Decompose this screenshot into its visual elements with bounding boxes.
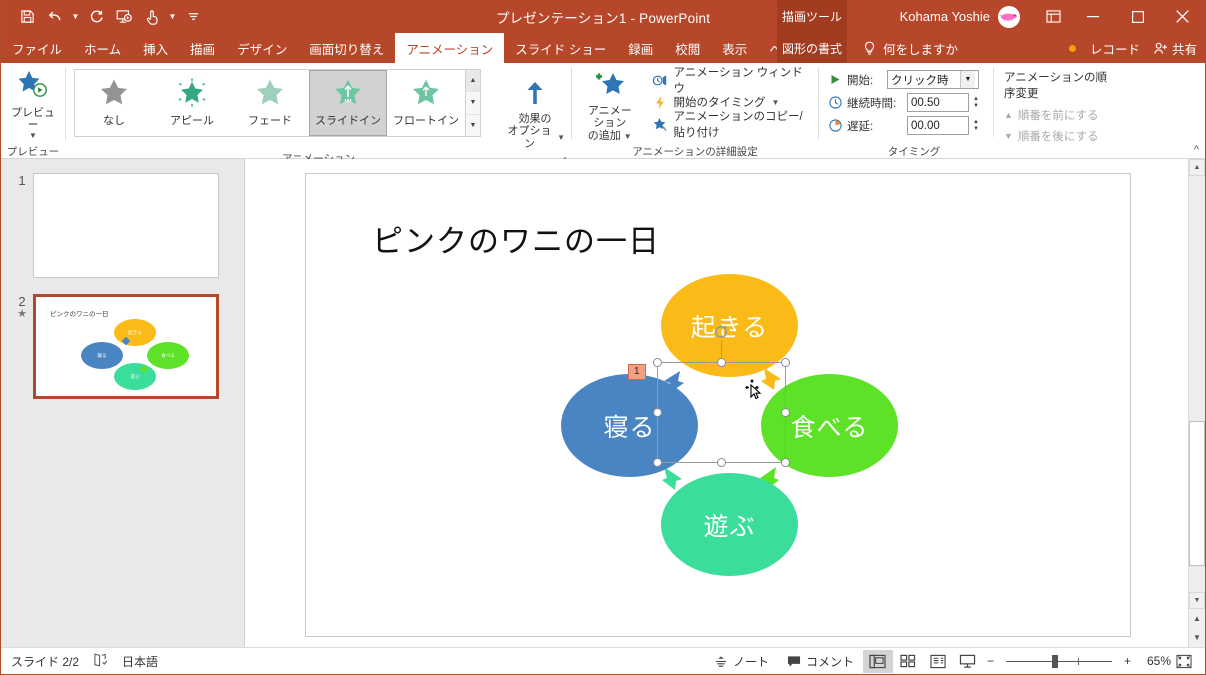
zoom-slider-knob[interactable] [1052, 655, 1058, 668]
delay-input[interactable]: 00.00 [907, 116, 969, 135]
maximize-button[interactable] [1115, 0, 1160, 33]
zoom-level[interactable]: 65% [1135, 654, 1171, 668]
accessibility-checker-icon[interactable] [93, 653, 108, 670]
context-tab-drawing-tools: 描画ツール [777, 0, 847, 33]
start-row: 開始: クリック時 ▼ [827, 68, 983, 91]
resize-handle-ne[interactable] [781, 358, 790, 367]
collapse-ribbon-icon[interactable]: ^ [1194, 144, 1199, 156]
normal-view-button[interactable] [863, 650, 893, 673]
delay-value: 00.00 [911, 120, 940, 132]
ribbon-tab-bar: ファイル ホーム 挿入 描画 デザイン 画面切り替え アニメーション スライド … [1, 33, 1205, 63]
slide-canvas[interactable]: ピンクのワニの一日 起きる [305, 173, 1131, 637]
delay-row: 遅延: 00.00 ▲▼ [827, 114, 983, 137]
zoom-slider-tick [1078, 658, 1079, 665]
ribbon-group-preview: プレビュー ▼ プレビュー [1, 63, 65, 159]
gallery-item-appear[interactable]: アピール [153, 70, 231, 136]
share-label: 共有 [1172, 39, 1197, 58]
zoom-slider[interactable] [1006, 661, 1112, 662]
reading-view-button[interactable] [923, 650, 953, 673]
tab-review[interactable]: 校閲 [664, 33, 711, 63]
tell-me-placeholder: 何をしますか [883, 39, 958, 58]
thumbnail-meta-1: 1 [11, 173, 33, 188]
main-area: 1 2 ★ ピンクのワニの一日 起きる 食べる 遊ぶ 寝る [1, 159, 1205, 647]
start-value: クリック時 [891, 72, 949, 88]
notes-button[interactable]: ノート [705, 650, 778, 673]
next-slide-button[interactable]: ▼ [1189, 628, 1205, 647]
save-icon[interactable] [13, 4, 41, 30]
touch-mode-caret-icon[interactable]: ▼ [166, 4, 179, 30]
comments-button[interactable]: コメント [778, 650, 863, 673]
duration-input[interactable]: 00.50 [907, 93, 969, 112]
redo-icon[interactable] [82, 4, 110, 30]
add-animation-button[interactable]: アニメーション の追加 ▼ [578, 67, 642, 143]
gallery-item-slide-in-label: スライドイン [315, 112, 381, 128]
scroll-track[interactable] [1189, 176, 1205, 592]
slide-title[interactable]: ピンクのワニの一日 [372, 216, 660, 261]
slideshow-button[interactable] [953, 650, 983, 673]
gallery-item-none[interactable]: なし [75, 70, 153, 136]
group-label-timing: タイミング [819, 144, 1109, 159]
thumbnail-number-2: 2 [11, 294, 33, 309]
duration-spinner[interactable]: ▲▼ [969, 93, 983, 112]
status-bar: スライド 2/2 日本語 ノート コメント [1, 647, 1205, 674]
tab-view[interactable]: 表示 [711, 33, 758, 63]
thumbnail-row-1[interactable]: 1 [1, 173, 244, 278]
thumbnail-shape-okiru: 起きる [114, 319, 156, 346]
touch-mode-icon[interactable] [138, 4, 166, 30]
mouse-cursor-move [743, 378, 767, 402]
resize-handle-sw[interactable] [653, 458, 662, 467]
status-right: ノート コメント − [705, 650, 1197, 673]
thumbnail-shape-taberu: 食べる [147, 342, 189, 369]
tab-draw[interactable]: 描画 [179, 33, 226, 63]
trigger-caret-icon[interactable]: ▼ [772, 100, 780, 106]
powerpoint-window: ▼ ▼ プレゼンテーション1 - PowerPoint 描画ツール Kohama… [0, 0, 1206, 675]
gallery-item-float-in-label: フロートイン [393, 112, 459, 128]
vertical-scrollbar[interactable]: ▲ ▼ ▲ ▼ [1188, 159, 1205, 647]
gallery-item-appear-label: アピール [170, 112, 214, 128]
start-from-beginning-icon[interactable] [110, 4, 138, 30]
start-dropdown-caret-icon[interactable]: ▼ [960, 71, 975, 88]
add-animation-star-icon [594, 70, 626, 102]
customize-qat-icon[interactable] [179, 4, 207, 30]
gallery-item-float-in[interactable]: フロートイン [387, 70, 465, 136]
slide-thumbnail-2[interactable]: ピンクのワニの一日 起きる 食べる 遊ぶ 寝る [33, 294, 219, 399]
title-bar-right: Kohama Yoshie [900, 0, 1205, 33]
language-indicator[interactable]: 日本語 [122, 653, 158, 670]
gallery-scroll-buttons[interactable]: ▲ ▼ ▼ [465, 70, 480, 136]
quick-access-toolbar: ▼ ▼ [1, 4, 207, 30]
tab-bar-right-actions: レコード 共有 [1069, 33, 1197, 63]
animation-gallery[interactable]: なし アピール フェード [74, 69, 481, 137]
previous-slide-button[interactable]: ▲ [1189, 609, 1205, 628]
record-dot-icon [1069, 45, 1076, 52]
thumbnail-shape-asobu: 遊ぶ [114, 363, 156, 390]
move-earlier-label: 順番を前にする [1018, 107, 1099, 123]
star-float-in-icon [411, 78, 441, 110]
star-fade-icon [255, 78, 285, 110]
ribbon-display-options-icon[interactable] [1036, 0, 1070, 33]
resize-handle-se[interactable] [781, 458, 790, 467]
clock-icon [827, 96, 843, 109]
star-gray-icon [99, 78, 129, 110]
animation-star-icon: ★ [11, 309, 33, 320]
animation-pane-button[interactable]: アニメーション ウィンドウ [648, 69, 819, 91]
ribbon-group-timing: 開始: クリック時 ▼ 継続時間: 00.50 [819, 63, 1109, 159]
effect-options-button[interactable]: 効果の オプション ▼ [499, 77, 571, 151]
ribbon-group-animation: なし アピール フェード [66, 63, 571, 159]
move-later-button[interactable]: ▼ 順番を後にする [998, 125, 1109, 146]
add-animation-label2: の追加 [588, 130, 621, 143]
comments-label: コメント [806, 653, 854, 670]
preview-caret-icon[interactable]: ▼ [29, 133, 37, 139]
gallery-item-fade[interactable]: フェード [231, 70, 309, 136]
preview-star-play-icon [16, 70, 50, 104]
tab-transitions[interactable]: 画面切り替え [298, 33, 395, 63]
preview-label: プレビュー [7, 107, 59, 132]
up-arrow-blue-icon [522, 80, 548, 110]
effect-options-label1: 効果の [519, 113, 552, 126]
tab-shape-format[interactable]: 図形の書式 [777, 33, 847, 63]
gallery-scroll-down-icon[interactable]: ▼ [466, 92, 480, 114]
close-button[interactable] [1160, 0, 1205, 33]
minimize-button[interactable] [1070, 0, 1115, 33]
tab-file[interactable]: ファイル [1, 33, 73, 63]
undo-dropdown-caret-icon[interactable]: ▼ [69, 4, 82, 30]
tell-me-box[interactable]: 何をしますか [863, 33, 958, 63]
add-animation-label1: アニメーション [584, 105, 636, 130]
gallery-item-slide-in[interactable]: スライドイン [309, 70, 387, 136]
ribbon: プレビュー ▼ プレビュー なし [1, 63, 1205, 159]
start-dropdown[interactable]: クリック時 ▼ [887, 70, 979, 89]
zoom-out-button[interactable]: − [983, 650, 998, 673]
zoom-slider-track[interactable] [1006, 661, 1112, 662]
notes-label: ノート [733, 653, 769, 670]
share-button[interactable]: 共有 [1154, 39, 1197, 58]
thumbnail-row-2[interactable]: 2 ★ ピンクのワニの一日 起きる 食べる 遊ぶ 寝る [1, 294, 244, 399]
slide-editor[interactable]: ピンクのワニの一日 起きる [245, 159, 1205, 647]
group-label-preview: プレビュー [1, 144, 65, 159]
shape-asobu[interactable]: 遊ぶ [661, 473, 798, 576]
scroll-down-button[interactable]: ▼ [1189, 592, 1205, 609]
start-label: 開始: [847, 72, 887, 88]
record-button[interactable]: レコード [1090, 39, 1140, 58]
tab-recording[interactable]: 録画 [617, 33, 664, 63]
fit-slide-icon[interactable] [1171, 654, 1197, 669]
slide-counter[interactable]: スライド 2/2 [11, 653, 79, 670]
group-label-advanced-animation: アニメーションの詳細設定 [572, 144, 818, 159]
thumbnail-shape-neru: 寝る [81, 342, 123, 369]
ribbon-group-advanced-animation: アニメーション の追加 ▼ アニメーション ウィンドウ [572, 63, 818, 159]
resize-handle-e[interactable] [781, 408, 790, 417]
effect-options-caret-icon[interactable]: ▼ [557, 135, 565, 141]
tab-home[interactable]: ホーム [73, 33, 132, 63]
duration-value: 00.50 [911, 97, 940, 109]
resize-handle-n[interactable] [717, 358, 726, 367]
lightbulb-icon [863, 41, 876, 56]
tab-design[interactable]: デザイン [226, 33, 298, 63]
preview-button[interactable]: プレビュー ▼ [1, 67, 65, 139]
delay-clock-icon [827, 119, 843, 132]
gallery-item-none-label: なし [103, 112, 125, 128]
add-animation-caret-icon[interactable]: ▼ [624, 134, 632, 140]
star-burst-green-icon [177, 78, 207, 110]
animation-pane-icon [652, 73, 668, 88]
animation-painter-icon [652, 117, 668, 132]
thumbnail-meta-2: 2 ★ [11, 294, 33, 320]
reorder-animation-title: アニメーションの順序変更 [998, 67, 1109, 104]
gallery-more-icon[interactable]: ▼ [466, 115, 480, 136]
slide-thumbnail-pane[interactable]: 1 2 ★ ピンクのワニの一日 起きる 食べる 遊ぶ 寝る [1, 159, 245, 647]
gallery-item-fade-label: フェード [248, 112, 292, 128]
delay-label: 遅延: [847, 118, 907, 134]
tab-insert[interactable]: 挿入 [132, 33, 179, 63]
account-name: Kohama Yoshie [900, 9, 990, 24]
star-slide-in-icon [333, 78, 363, 110]
duration-row: 継続時間: 00.50 ▲▼ [827, 91, 983, 114]
delay-spinner[interactable]: ▲▼ [969, 116, 983, 135]
slide-thumbnail-1[interactable] [33, 173, 219, 278]
animation-order-badge[interactable]: 1 [628, 364, 646, 380]
rotate-handle[interactable] [713, 324, 729, 340]
move-earlier-button[interactable]: ▲ 順番を前にする [998, 104, 1109, 125]
slide-sorter-button[interactable] [893, 650, 923, 673]
thumbnail-diagram: 起きる 食べる 遊ぶ 寝る [81, 319, 189, 389]
undo-icon[interactable] [41, 4, 69, 30]
resize-handle-w[interactable] [653, 408, 662, 417]
move-later-label: 順番を後にする [1018, 128, 1099, 144]
triangle-down-icon: ▼ [1004, 131, 1013, 141]
avatar[interactable] [998, 6, 1020, 28]
group-label-timing-text: タイミング [888, 144, 941, 159]
resize-handle-s[interactable] [717, 458, 726, 467]
gallery-scroll-up-icon[interactable]: ▲ [466, 70, 480, 92]
duration-label: 継続時間: [847, 95, 907, 111]
title-bar: ▼ ▼ プレゼンテーション1 - PowerPoint 描画ツール Kohama… [1, 0, 1205, 33]
zoom-in-button[interactable]: + [1120, 650, 1135, 673]
tab-animations[interactable]: アニメーション [395, 33, 504, 63]
triangle-up-icon: ▲ [1004, 110, 1013, 120]
animation-painter-button[interactable]: アニメーションのコピー/貼り付け [648, 113, 819, 135]
status-left: スライド 2/2 日本語 [1, 653, 158, 670]
animation-painter-label: アニメーションのコピー/貼り付け [674, 108, 815, 140]
effect-options-label2: オプション [505, 125, 554, 150]
tab-slideshow[interactable]: スライド ショー [504, 33, 617, 63]
play-green-icon [827, 74, 843, 85]
thumbnail-number-1: 1 [11, 173, 33, 188]
scroll-up-button[interactable]: ▲ [1189, 159, 1205, 176]
trigger-bolt-icon [652, 95, 668, 110]
resize-handle-nw[interactable] [653, 358, 662, 367]
thumbnail-title-2: ピンクのワニの一日 [50, 308, 109, 318]
scroll-thumb[interactable] [1189, 421, 1205, 566]
